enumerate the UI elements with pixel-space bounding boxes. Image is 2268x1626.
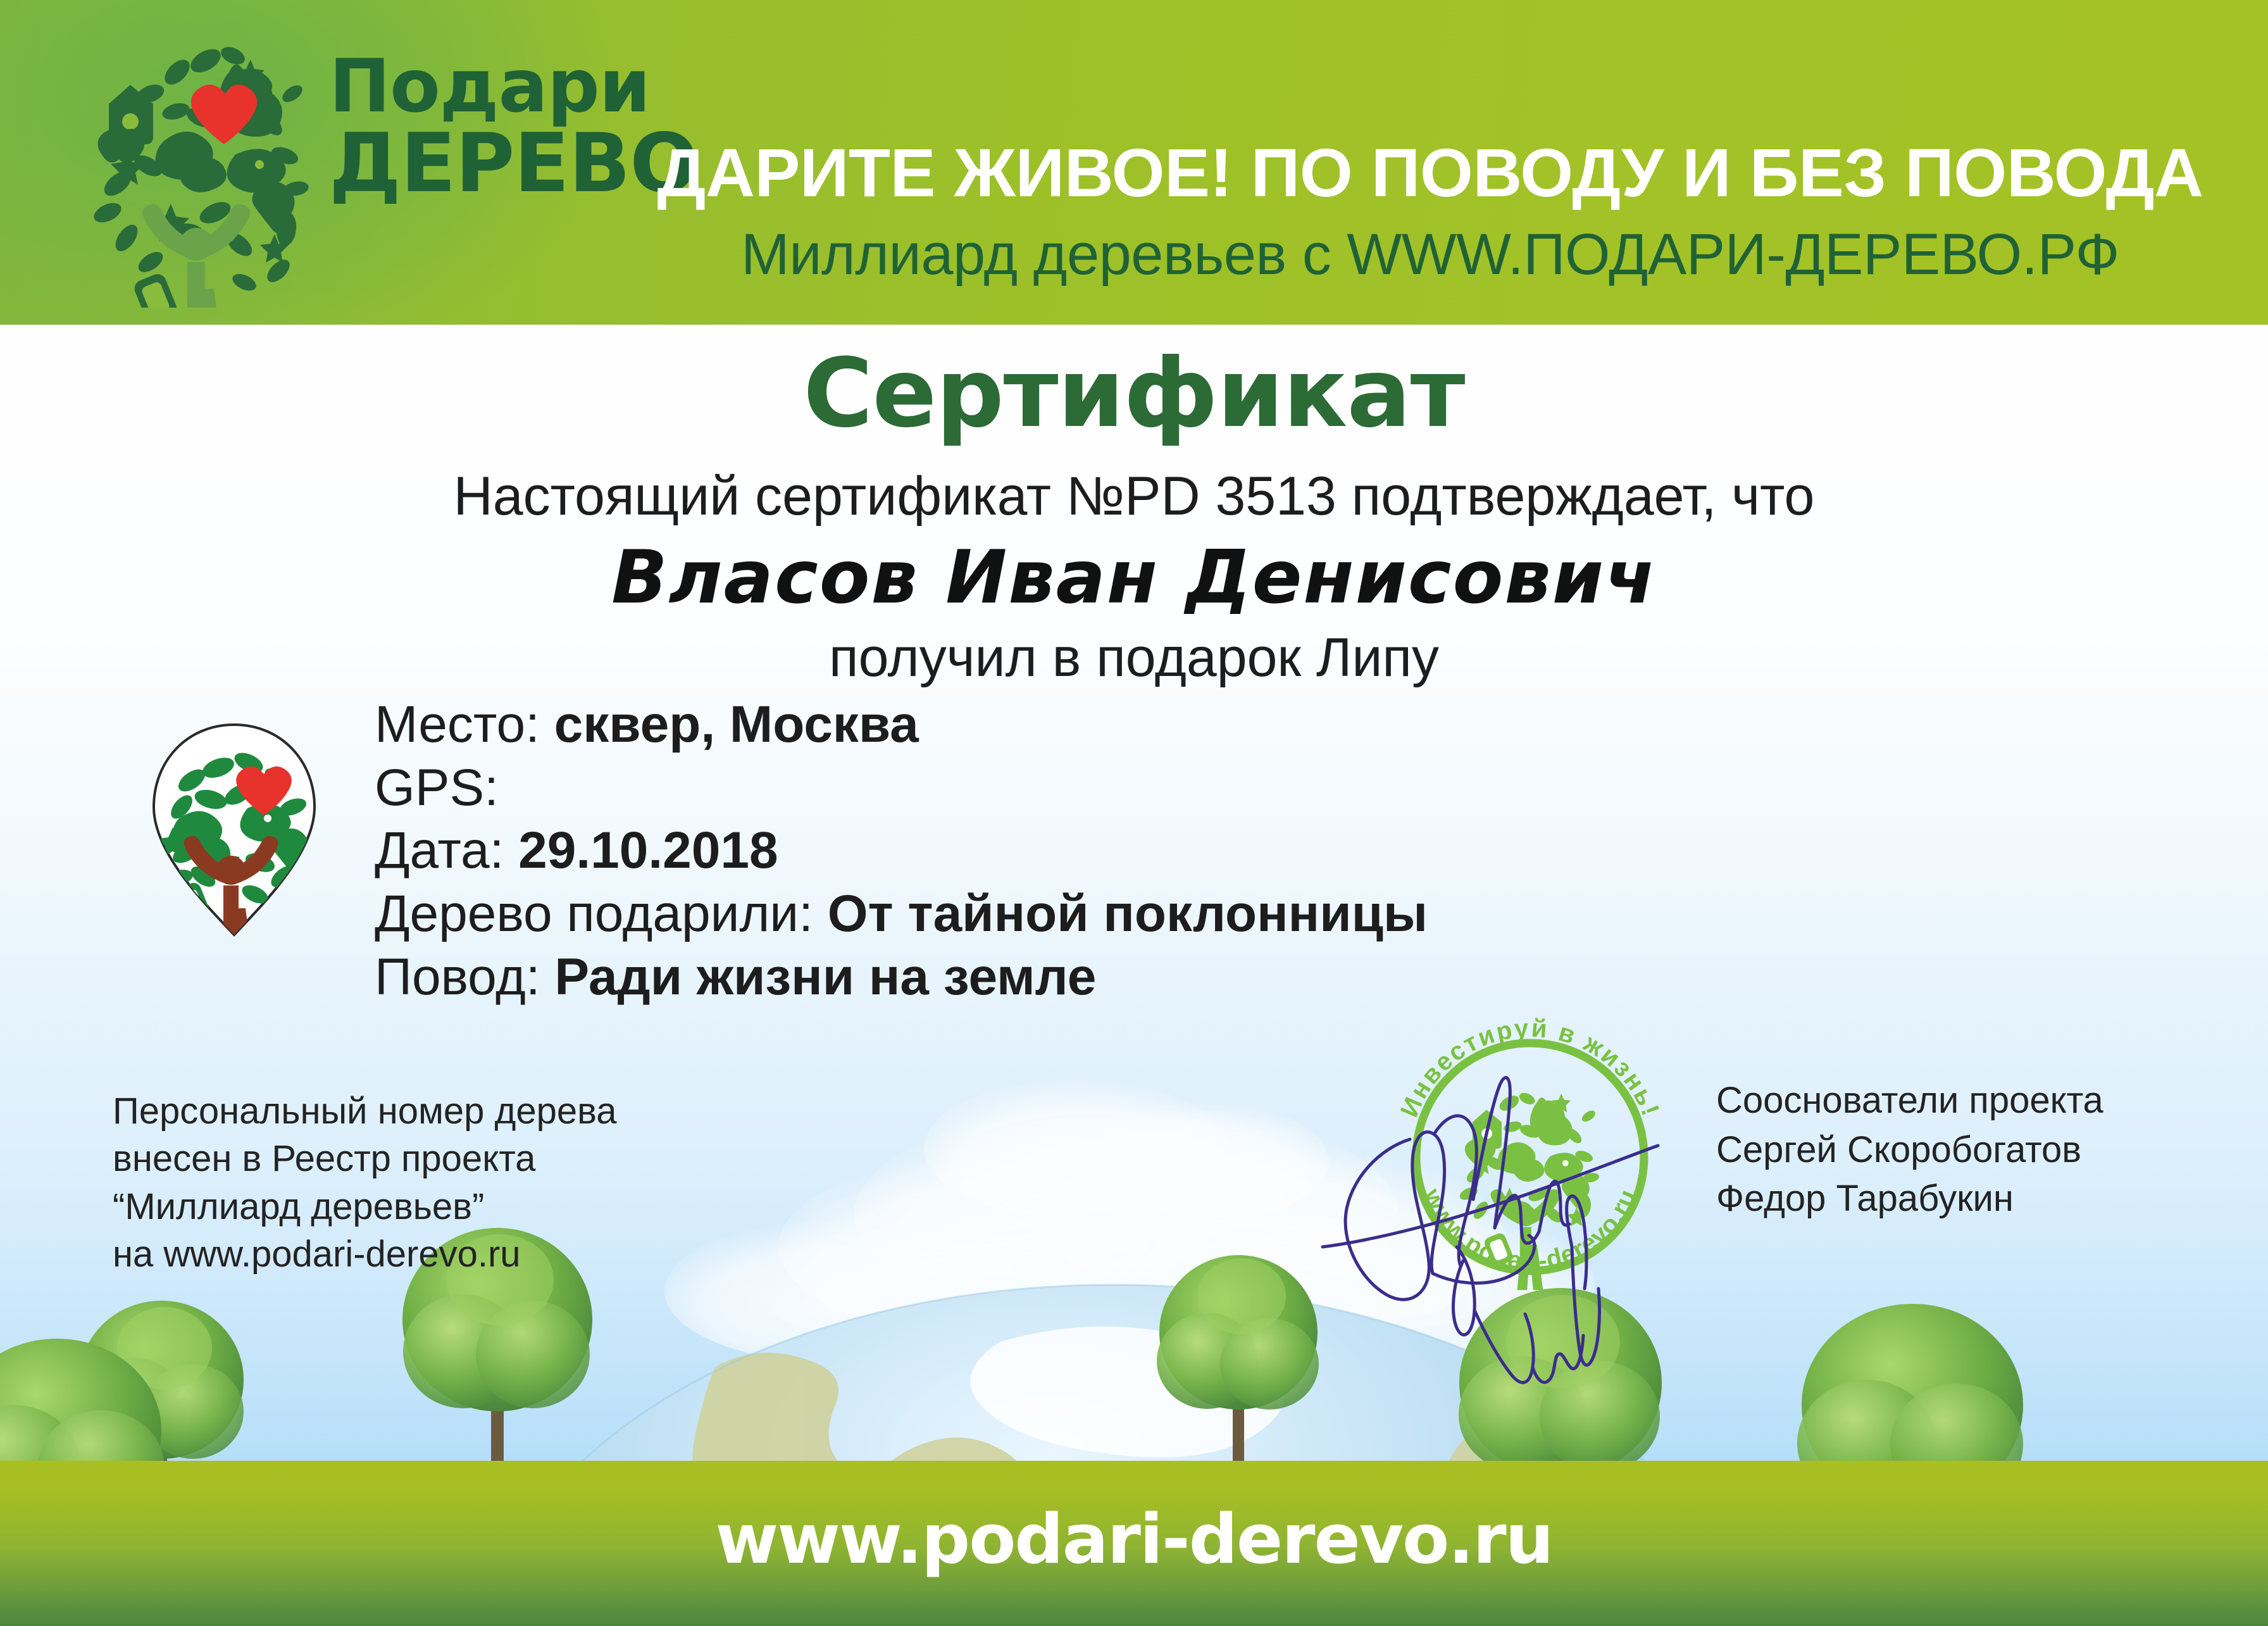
header-band: Подари ДЕРЕВО ДАРИТЕ ЖИВОЕ! ПО ПОВОДУ И … <box>0 0 2268 325</box>
brand-logo[interactable]: Подари ДЕРЕВО <box>63 16 620 308</box>
page-title: Сертификат <box>0 339 2268 449</box>
footnote-line-3: “Миллиард деревьев” <box>113 1183 809 1230</box>
logo-word-derevo: ДЕРЕВО <box>329 125 626 203</box>
detail-label-povod: Повод: <box>375 948 540 1006</box>
logo-word-podari: Подари <box>329 51 626 122</box>
recipient-name: Власов Иван Денисович <box>0 535 2268 620</box>
footer-url[interactable]: www.podari-derevo.ru <box>0 1500 2268 1579</box>
footnote-line-4: на www.podari-derevo.ru <box>113 1230 809 1278</box>
logo-wordmark: Подари ДЕРЕВО <box>329 51 626 203</box>
registry-footnote: Персональный номер дерева внесен в Реест… <box>113 1087 809 1279</box>
header-slogan: ДАРИТЕ ЖИВОЕ! ПО ПОВОДУ И БЕЗ ПОВОДА <box>620 133 2240 212</box>
detail-label-podarili: Дерево подарили: <box>375 885 813 942</box>
detail-row: Дерево подарили: От тайной поклонницы <box>375 882 1830 946</box>
gift-line: получил в подарок Липу <box>0 627 2268 689</box>
founder-name-1: Сергей Скоробогатов <box>1716 1125 2235 1175</box>
detail-value-data: 29.10.2018 <box>518 822 778 879</box>
detail-label-mesto: Место: <box>375 696 540 753</box>
detail-row: Место: сквер, Москва <box>375 693 1830 756</box>
founders-block: Сооснователи проекта Сергей Скоробогатов… <box>1716 1076 2235 1223</box>
certificate-page: Подари ДЕРЕВО ДАРИТЕ ЖИВОЕ! ПО ПОВОДУ И … <box>0 0 2268 1626</box>
detail-row: GPS: <box>375 756 1830 820</box>
svg-text:Инвестируй в жизнь!: Инвестируй в жизнь! <box>1395 1015 1665 1122</box>
detail-value-podarili: От тайной поклонницы <box>828 885 1428 942</box>
footnote-line-1: Персональный номер дерева <box>113 1087 809 1135</box>
header-subslogan: Миллиард деревьев с WWW.ПОДАРИ-ДЕРЕВО.РФ <box>620 222 2240 288</box>
certificate-details: Место: сквер, Москва GPS: Дата: 29.10.20… <box>375 693 1830 1008</box>
stamp-top-text: Инвестируй в жизнь! <box>1395 1015 1665 1122</box>
official-stamp: Инвестируй в жизнь! www.podari-derevo.ru <box>1378 1005 1682 1309</box>
detail-value-mesto: сквер, Москва <box>554 696 919 753</box>
map-pin-svg <box>142 718 326 940</box>
footer-band: www.podari-derevo.ru <box>0 1461 2268 1626</box>
footnote-line-2: внесен в Реестр проекта <box>113 1135 809 1182</box>
detail-value-povod: Ради жизни на земле <box>554 948 1096 1006</box>
detail-row: Дата: 29.10.2018 <box>375 819 1830 882</box>
confirmation-line: Настоящий сертификат №PD 3513 подтвержда… <box>0 465 2268 528</box>
founder-name-2: Федор Тарабукин <box>1716 1174 2235 1223</box>
map-pin-tree-icon <box>142 718 326 940</box>
detail-label-data: Дата: <box>375 822 504 879</box>
detail-label-gps: GPS: <box>375 759 499 816</box>
tree-with-heart-logo-icon <box>70 23 361 308</box>
founders-title: Сооснователи проекта <box>1716 1076 2235 1125</box>
stamp-svg: Инвестируй в жизнь! www.podari-derevo.ru <box>1378 1005 1682 1309</box>
detail-row: Повод: Ради жизни на земле <box>375 946 1830 1009</box>
